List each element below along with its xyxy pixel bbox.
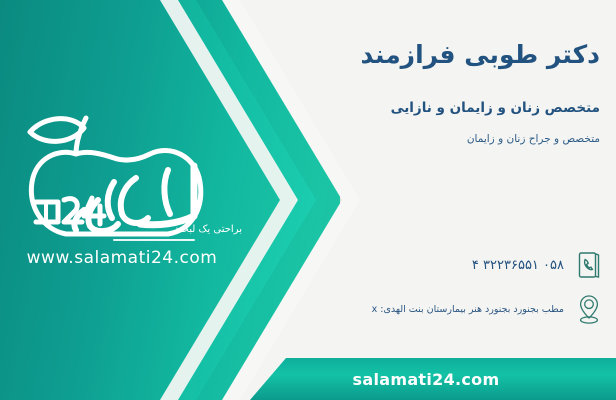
address-text: مطب بجنورد بجنورد هنر بیمارستان بنت الهد… [372, 304, 564, 315]
phone-row[interactable]: ۰۵۸ ۳۲۲۳۶۵۵۱ ۴ [472, 248, 604, 282]
logo-tagline: براحتی یک لبخند [92, 224, 242, 235]
location-pin-icon [574, 292, 604, 326]
address-row[interactable]: مطب بجنورد بجنورد هنر بیمارستان بنت الهد… [372, 292, 604, 326]
footer-site[interactable]: salamati24.com [250, 358, 616, 400]
phone-number: ۰۵۸ ۳۲۲۳۶۵۵۱ ۴ [472, 258, 564, 273]
card-content: دکتر طوبی فرازمند متخصص زنان و زایمان و … [330, 0, 616, 400]
phone-book-icon [574, 248, 604, 282]
doctor-name: دکتر طوبی فرازمند [350, 40, 600, 70]
business-card: براحتی یک لبخند www.salamati24.com دکتر … [0, 0, 616, 400]
teal-panel: براحتی یک لبخند www.salamati24.com [0, 0, 360, 400]
doctor-specialty-secondary: متخصص و جراح زنان و زایمان [350, 133, 600, 145]
logo-url: www.salamati24.com [24, 248, 220, 268]
doctor-specialty-primary: متخصص زنان و زایمان و نازایی [350, 100, 600, 116]
